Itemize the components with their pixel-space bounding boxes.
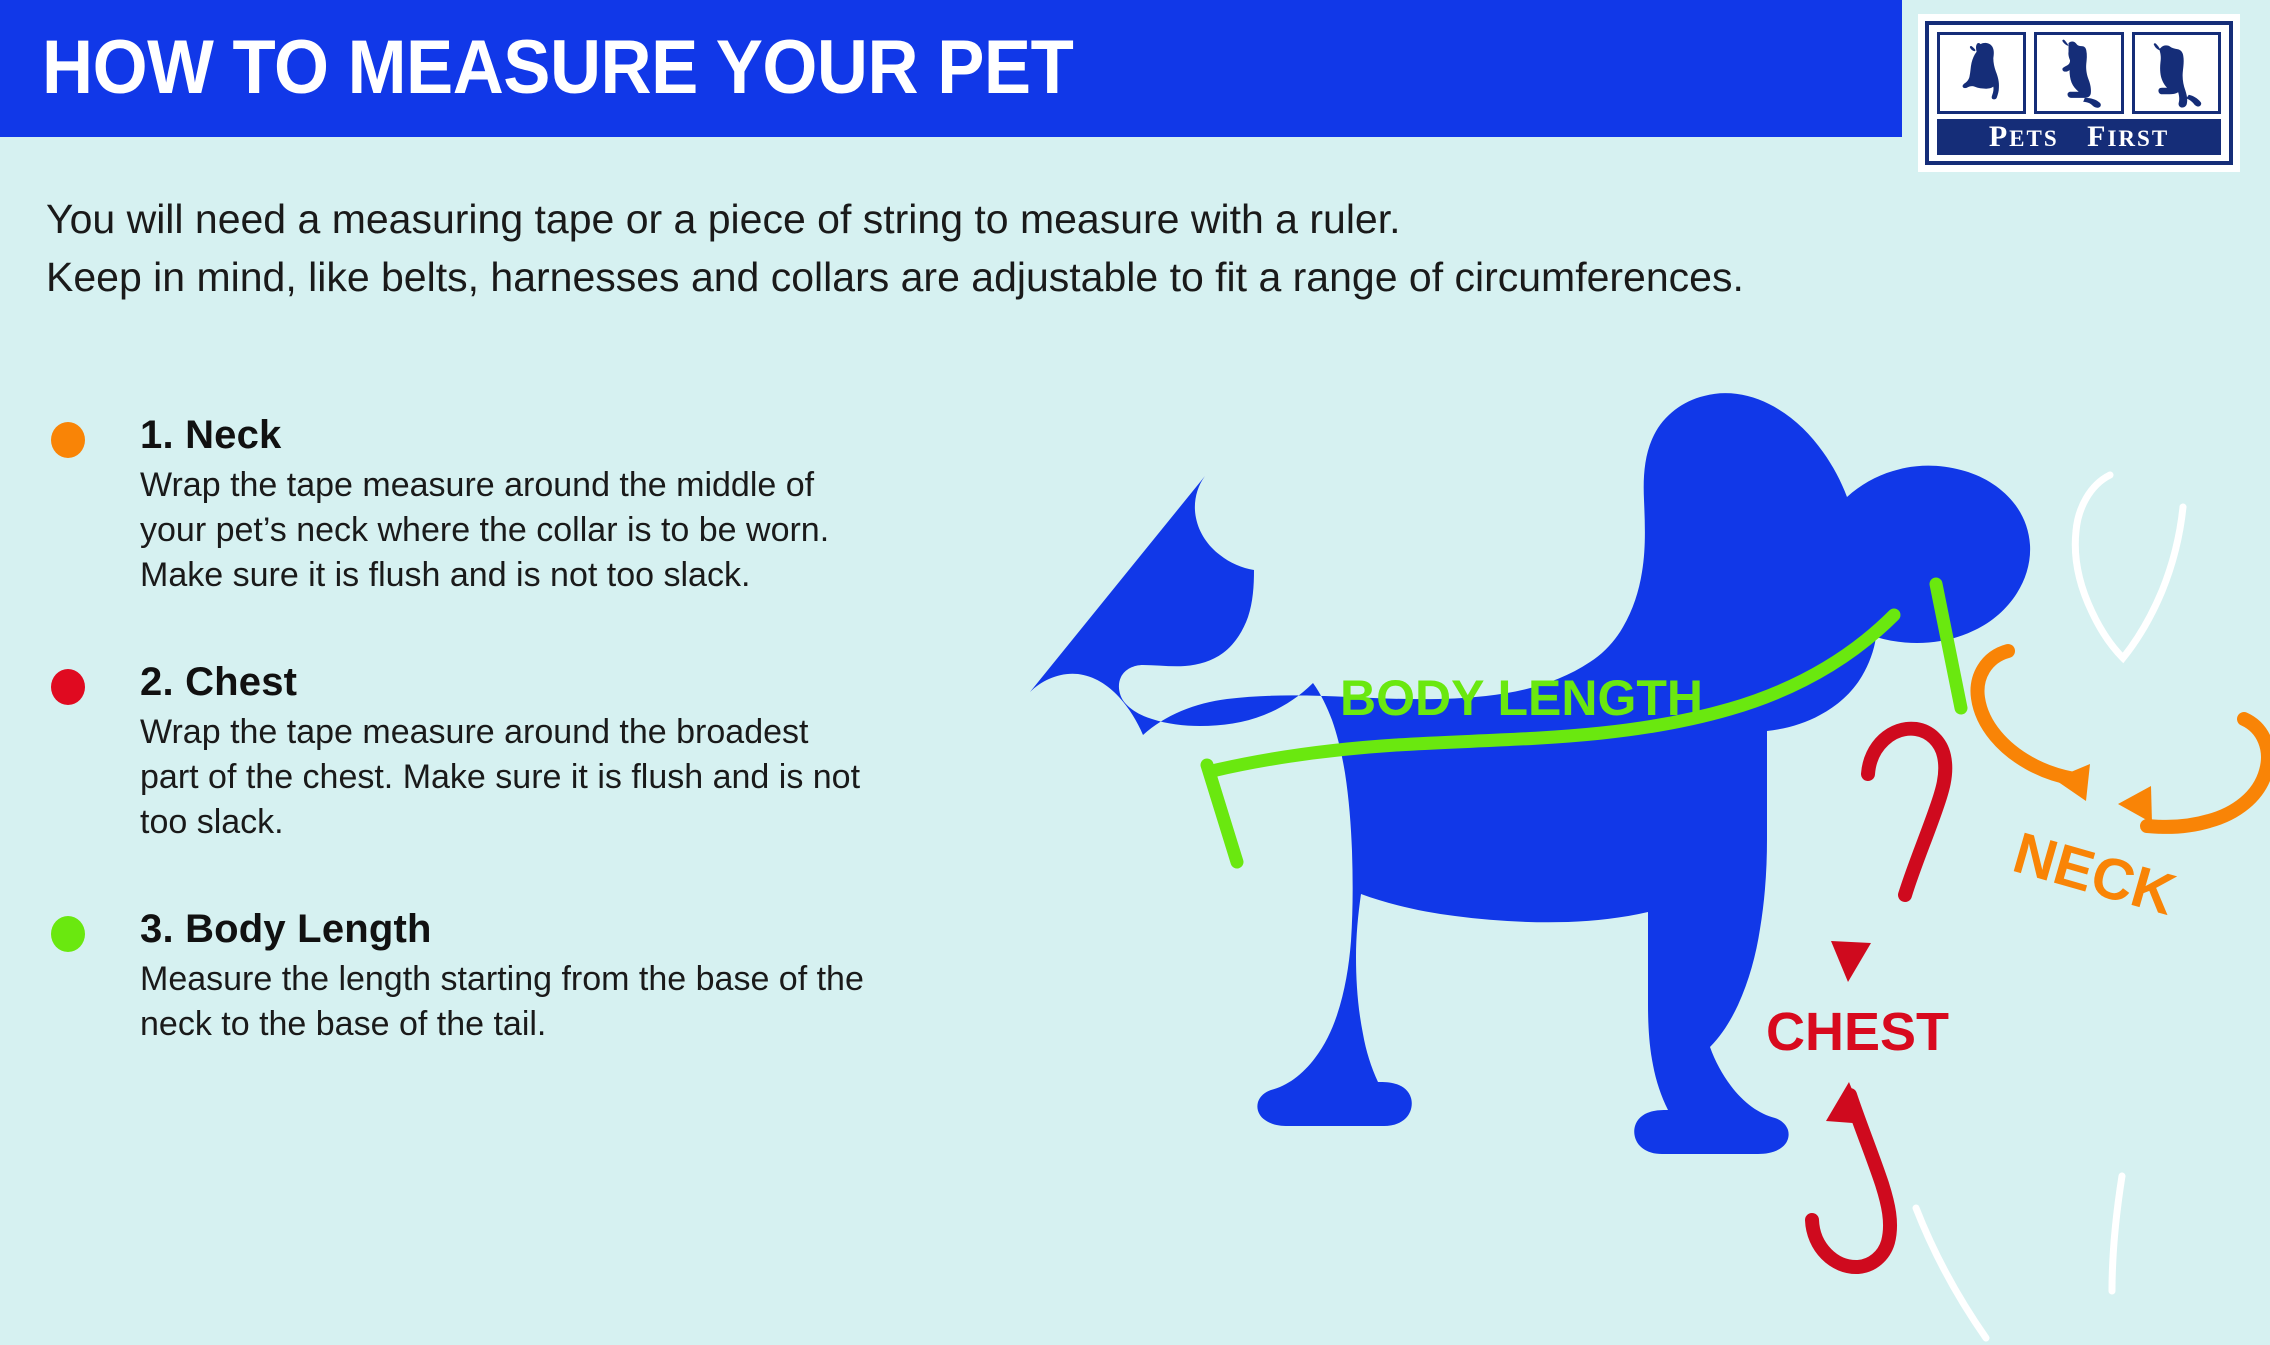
shaking-paw-dog-silhouette-icon — [2034, 32, 2123, 114]
neck-measure-arrows — [1978, 651, 2268, 827]
step-body-line: neck to the base of the tail. — [140, 1002, 746, 1047]
step-body-neck: Wrap the tape measure around the middle … — [140, 463, 746, 598]
bullet-body-length-icon — [51, 916, 85, 952]
dog-front-leg-detail-line — [2112, 1176, 2122, 1291]
step-body-line: Wrap the tape measure around the middle … — [140, 463, 746, 508]
step-body-body-length: Measure the length starting from the bas… — [140, 957, 746, 1047]
step-body-line: too slack. — [140, 800, 746, 845]
step-body-chest: Wrap the tape measure around the broades… — [140, 710, 746, 845]
bullet-chest-icon — [51, 669, 85, 705]
step-body-line: Wrap the tape measure around the broades… — [140, 710, 746, 755]
step-title-body-length: 3. Body Length — [140, 906, 746, 953]
step-body-line: part of the chest. Make sure it is flush… — [140, 755, 746, 800]
chest-measure-arrow — [1812, 729, 1945, 1267]
measurement-steps-list: 1. Neck Wrap the tape measure around the… — [46, 412, 746, 1108]
dog-rear-leg-detail-line — [1916, 1208, 1986, 1338]
dog-measurement-diagram: BODY LENGTH NECK CHEST — [1000, 370, 2270, 1345]
step-body-line: Make sure it is flush and is not too sla… — [140, 553, 746, 598]
step-item-neck: 1. Neck Wrap the tape measure around the… — [46, 412, 746, 598]
logo-word-first: FIRST — [2087, 120, 2169, 153]
step-item-chest: 2. Chest Wrap the tape measure around th… — [46, 659, 746, 845]
logo-panel-group — [1937, 32, 2221, 114]
header-banner: HOW TO MEASURE YOUR PET — [0, 0, 1902, 137]
step-body-line: Measure the length starting from the bas… — [140, 957, 746, 1002]
logo-wordmark: PETS FIRST — [1937, 119, 2221, 155]
chest-label: CHEST — [1766, 1002, 1949, 1062]
dog-ear-detail-line — [2075, 475, 2183, 658]
intro-line-1: You will need a measuring tape or a piec… — [46, 190, 1846, 248]
step-title-neck: 1. Neck — [140, 412, 746, 459]
bullet-neck-icon — [51, 422, 85, 458]
intro-line-2: Keep in mind, like belts, harnesses and … — [46, 248, 1846, 306]
logo-word-pets: PETS — [1989, 120, 2059, 153]
body-length-label: BODY LENGTH — [1340, 670, 1703, 726]
sitting-dog-silhouette-icon — [1937, 32, 2026, 114]
brand-logo-frame: PETS FIRST — [1925, 21, 2233, 165]
page-title: HOW TO MEASURE YOUR PET — [42, 22, 1073, 114]
brand-logo[interactable]: PETS FIRST — [1918, 14, 2240, 172]
step-title-chest: 2. Chest — [140, 659, 746, 706]
intro-paragraph: You will need a measuring tape or a piec… — [46, 190, 1846, 306]
neck-label: NECK — [2006, 820, 2182, 928]
step-body-line: your pet’s neck where the collar is to b… — [140, 508, 746, 553]
alert-dog-silhouette-icon — [2132, 32, 2221, 114]
step-item-body-length: 3. Body Length Measure the length starti… — [46, 906, 746, 1047]
